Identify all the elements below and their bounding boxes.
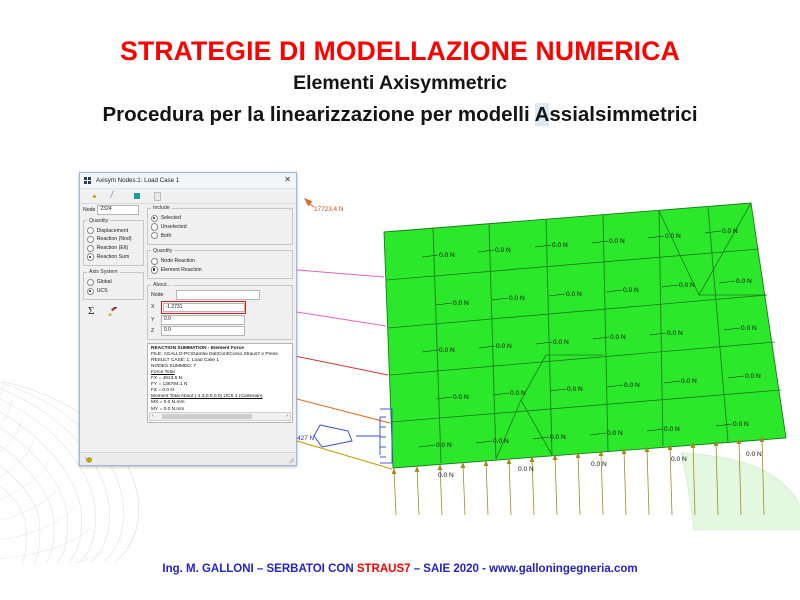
footer: Ing. M. GALLONI – SERBATOI CON STRAUS7 –… xyxy=(0,563,800,575)
svg-text:0.0 N: 0.0 N xyxy=(510,390,526,397)
radio-include-unselected[interactable]: Unselected xyxy=(151,223,289,230)
svg-text:0.0 N: 0.0 N xyxy=(493,438,509,445)
bottom-tools-row: Σ xyxy=(83,306,144,317)
dialog-body: Node 2324 Quantity Displacement Reaction… xyxy=(80,202,296,453)
svg-text:0.0 N: 0.0 N xyxy=(624,382,640,389)
radio-circle xyxy=(151,258,158,265)
radio-circle xyxy=(151,232,158,239)
subtitle2-part-a: Procedura per la linearizzazione per mod… xyxy=(102,103,534,126)
svg-text:0.0 N: 0.0 N xyxy=(453,300,469,307)
summary-line: FILE: \\GALLO-PC\Gambe Dat\Cont\Corso St… xyxy=(151,352,289,358)
about-z-input[interactable]: 0.0 xyxy=(161,326,245,336)
quantity2-group: Quantity Node Reaction Element Reaction xyxy=(147,248,293,279)
about-node-label: Node xyxy=(151,292,173,298)
svg-text:0.0 N: 0.0 N xyxy=(550,434,566,441)
slide-canvas: STRATEGIE DI MODELLAZIONE NUMERICA Eleme… xyxy=(0,0,800,600)
svg-text:0.0 N: 0.0 N xyxy=(607,430,623,437)
radio-circle xyxy=(87,227,94,234)
radio-displacement[interactable]: Displacement xyxy=(87,227,140,234)
svg-text:0.0 N: 0.0 N xyxy=(436,442,452,449)
radio-include-both[interactable]: Both xyxy=(151,232,289,239)
radio-label: Element Reaction xyxy=(161,267,202,273)
svg-text:0.0 N: 0.0 N xyxy=(736,278,752,285)
svg-text:0.0 N: 0.0 N xyxy=(665,233,681,240)
radio-label: Reaction (Elt) xyxy=(97,245,128,251)
radio-reaction-node[interactable]: Reaction (Nod) xyxy=(87,236,140,243)
reaction-summation-arrows: 17723.4 N 30839.0 N 26788.6 N 22429.3 N xyxy=(296,199,392,469)
point-tool-icon[interactable] xyxy=(89,191,100,201)
brush-icon[interactable] xyxy=(107,307,117,317)
svg-text:0.0 N: 0.0 N xyxy=(566,291,582,298)
svg-text:0.0 N: 0.0 N xyxy=(664,426,680,433)
about-z-label: Z xyxy=(151,328,158,334)
axis-system-legend: Axis System xyxy=(87,269,120,275)
axisym-nodes-dialog[interactable]: Axisym Nodes:1: Load Case 1 ✕ Node 2324 … xyxy=(79,172,297,466)
scroll-left-icon[interactable]: ‹ xyxy=(150,413,156,420)
radio-element-reaction[interactable]: Element Reaction xyxy=(151,266,289,273)
footer-brand: STRAUS7 xyxy=(357,563,411,575)
node-label: Node xyxy=(83,207,95,213)
mesh-surface xyxy=(384,203,786,468)
title-block: STRATEGIE DI MODELLAZIONE NUMERICA Eleme… xyxy=(0,38,800,126)
radio-label: Reaction (Nod) xyxy=(97,236,132,242)
radio-label: UCS xyxy=(97,288,108,294)
dialog-title: Axisym Nodes:1: Load Case 1 xyxy=(96,177,179,184)
svg-text:0.0 N: 0.0 N xyxy=(610,334,626,341)
about-node-row: Node xyxy=(151,290,289,300)
radio-label: Both xyxy=(161,233,172,239)
svg-text:0.0 N: 0.0 N xyxy=(496,343,512,350)
svg-text:0.0 N: 0.0 N xyxy=(518,466,534,473)
about-group: About... Node X -1.2731 xyxy=(147,282,293,340)
radio-label: Unselected xyxy=(161,224,187,230)
svg-text:0.0 N: 0.0 N xyxy=(667,330,683,337)
svg-text:0.0 N: 0.0 N xyxy=(746,451,762,458)
svg-text:0.0 N: 0.0 N xyxy=(509,295,525,302)
svg-text:0.0 N: 0.0 N xyxy=(671,456,687,463)
svg-text:0.0 N: 0.0 N xyxy=(679,282,695,289)
radio-label: Global xyxy=(97,279,112,285)
sigma-sum-icon[interactable]: Σ xyxy=(88,306,94,317)
radio-axis-ucs[interactable]: UCS xyxy=(87,288,140,295)
dialog-right-column: Include Selected Unselected Both xyxy=(146,202,296,453)
resultant-force-arrow xyxy=(314,409,392,463)
radio-label: Displacement xyxy=(97,228,128,234)
radio-reaction-sum[interactable]: Reaction Sum xyxy=(87,253,140,260)
page-subtitle-2: Procedura per la linearizzazione per mod… xyxy=(0,104,800,126)
about-x-label: X xyxy=(151,304,158,310)
svg-text:0.0 N: 0.0 N xyxy=(609,238,625,245)
radio-label: Selected xyxy=(161,215,181,221)
svg-text:0.0 N: 0.0 N xyxy=(438,472,454,479)
svg-text:0.0 N: 0.0 N xyxy=(623,287,639,294)
svg-text:0.0 N: 0.0 N xyxy=(439,347,455,354)
node-input[interactable]: 2324 xyxy=(97,205,139,215)
reaction-summation-output[interactable]: REACTION SUMMATION - Element Force FILE:… xyxy=(147,343,293,423)
radio-circle xyxy=(87,279,94,286)
resize-grip-icon[interactable] xyxy=(287,456,295,464)
app-icon xyxy=(84,177,92,185)
page-subtitle: Elementi Axisymmetric xyxy=(0,73,800,93)
scroll-right-icon[interactable]: › xyxy=(284,413,290,420)
radio-circle-selected xyxy=(151,266,158,273)
svg-text:0.0 N: 0.0 N xyxy=(681,378,697,385)
subtitle2-part-c: ssialsimmetrici xyxy=(549,103,697,126)
svg-text:0.0 N: 0.0 N xyxy=(495,247,511,254)
about-node-input[interactable] xyxy=(176,290,260,300)
scrollbar-thumb[interactable] xyxy=(162,414,252,419)
svg-text:0.0 N: 0.0 N xyxy=(722,228,738,235)
svg-text:0.0 N: 0.0 N xyxy=(553,339,569,346)
radio-include-selected[interactable]: Selected xyxy=(151,215,289,222)
radio-axis-global[interactable]: Global xyxy=(87,279,140,286)
axis-system-group: Axis System Global UCS xyxy=(83,269,144,300)
svg-text:0.0 N: 0.0 N xyxy=(741,325,757,332)
radio-label: Node Reaction xyxy=(161,258,195,264)
svg-text:0.0 N: 0.0 N xyxy=(453,394,469,401)
quantity-legend: Quantity xyxy=(87,218,110,224)
subtitle2-highlight: A xyxy=(535,103,550,126)
radio-label: Reaction Sum xyxy=(97,254,130,260)
svg-text:0.0 N: 0.0 N xyxy=(552,242,568,249)
quantity-group: Quantity Displacement Reaction (Nod) Rea… xyxy=(83,218,144,267)
radio-node-reaction[interactable]: Node Reaction xyxy=(151,258,289,265)
dialog-titlebar[interactable]: Axisym Nodes:1: Load Case 1 ✕ xyxy=(80,173,296,189)
bug-icon[interactable] xyxy=(85,456,93,463)
delete-tool-icon[interactable] xyxy=(152,191,163,201)
svg-text:17723.4 N: 17723.4 N xyxy=(314,206,344,213)
node-field-row: Node 2324 xyxy=(83,205,144,215)
radio-circle-selected xyxy=(151,215,158,222)
about-z-row: Z 0.0 xyxy=(151,326,289,336)
svg-text:42427 N: 42427 N xyxy=(296,435,315,442)
line-tool-icon[interactable] xyxy=(110,191,121,201)
include-group: Include Selected Unselected Both xyxy=(147,205,293,245)
about-legend: About... xyxy=(151,282,173,288)
svg-text:0.0 N: 0.0 N xyxy=(733,421,749,428)
page-title: STRATEGIE DI MODELLAZIONE NUMERICA xyxy=(0,38,800,66)
radio-circle-selected xyxy=(87,253,94,260)
footer-part-2: – SAIE 2020 - www.galloningegneria.com xyxy=(411,563,638,575)
include-legend: Include xyxy=(151,205,172,211)
radio-reaction-elt[interactable]: Reaction (Elt) xyxy=(87,245,140,252)
about-x-highlight: -1.2731 xyxy=(161,301,246,314)
surface-tool-icon[interactable] xyxy=(131,191,142,201)
footer-part-1: Ing. M. GALLONI – SERBATOI CON xyxy=(162,563,356,575)
dialog-statusbar xyxy=(80,452,296,465)
about-y-label: Y xyxy=(151,317,158,323)
radio-circle xyxy=(87,236,94,243)
svg-text:0.0 N: 0.0 N xyxy=(591,461,607,468)
close-icon[interactable]: ✕ xyxy=(284,176,291,184)
radio-circle xyxy=(151,223,158,230)
svg-text:0.0 N: 0.0 N xyxy=(439,252,455,259)
about-x-input[interactable]: -1.2731 xyxy=(163,303,245,313)
radio-circle-selected xyxy=(87,288,94,295)
horizontal-scrollbar[interactable]: ‹ › xyxy=(149,412,291,421)
model-viewport[interactable]: 0.0 N 0.0 N 0.0 N 0.0 N 0.0 N 0.0 N 0.0 … xyxy=(296,185,800,530)
radio-circle xyxy=(87,245,94,252)
dialog-left-column: Node 2324 Quantity Displacement Reaction… xyxy=(80,202,146,453)
about-x-row: X -1.2731 xyxy=(151,301,289,314)
about-y-row: Y 0.0 xyxy=(151,315,289,325)
svg-text:0.0 N: 0.0 N xyxy=(745,373,761,380)
about-fields: Node X -1.2731 Y 0.0 xyxy=(151,290,289,336)
svg-text:0.0 N: 0.0 N xyxy=(567,386,583,393)
about-y-input[interactable]: 0.0 xyxy=(161,315,245,325)
quantity2-legend: Quantity xyxy=(151,248,174,254)
